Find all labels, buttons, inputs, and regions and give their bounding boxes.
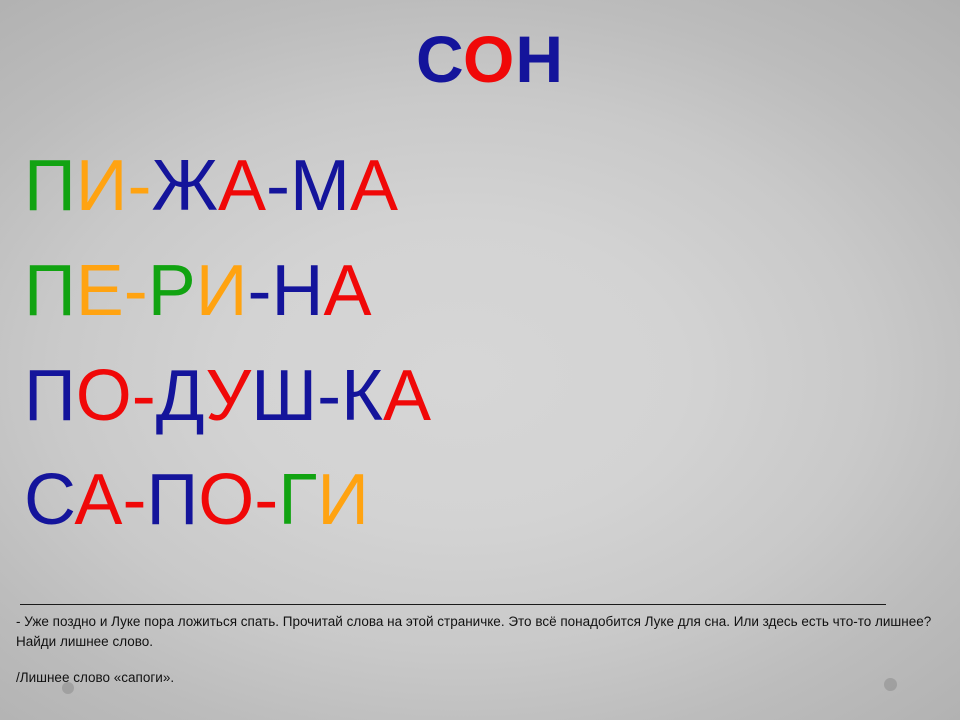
word-2-char-1: О	[76, 356, 132, 436]
word-0-char-5: -	[266, 146, 290, 226]
word-3-char-7: И	[317, 460, 369, 540]
notes-paragraph-answer: /Лишнее слово «сапоги».	[16, 668, 944, 688]
notes-divider	[20, 604, 886, 605]
word-2-char-7: К	[341, 356, 383, 436]
page-title: СОН	[0, 26, 960, 92]
word-3-char-3: П	[146, 460, 198, 540]
word-3-char-4: О	[198, 460, 254, 540]
word-2-char-8: А	[383, 356, 431, 436]
word-3-char-1: А	[74, 460, 122, 540]
word-row-2: ПО-ДУШ-КА	[24, 344, 924, 449]
word-0-char-7: А	[350, 146, 398, 226]
word-0-char-1: И	[76, 146, 128, 226]
word-3-char-2: -	[122, 460, 146, 540]
word-2-char-2: -	[132, 356, 156, 436]
word-row-3: СА-ПО-ГИ	[24, 448, 924, 553]
word-0-char-4: А	[218, 146, 266, 226]
title-char-2: Н	[515, 22, 564, 96]
word-1-char-4: И	[196, 251, 248, 331]
word-1-char-2: -	[124, 251, 148, 331]
decorative-dot-right-icon	[884, 678, 897, 691]
word-row-1: ПЕ-РИ-НА	[24, 239, 924, 344]
word-1-char-3: Р	[148, 251, 196, 331]
word-2-char-6: -	[317, 356, 341, 436]
word-3-char-0: С	[24, 460, 74, 540]
word-0-char-2: -	[128, 146, 152, 226]
title-char-1: О	[463, 22, 515, 96]
word-0-char-6: М	[290, 146, 350, 226]
title-char-0: С	[416, 22, 463, 96]
notes-paragraph-instruction: - Уже поздно и Луке пора ложиться спать.…	[16, 612, 944, 652]
word-3-char-6: Г	[278, 460, 317, 540]
slide-canvas: СОН ПИ-ЖА-МАПЕ-РИ-НАПО-ДУШ-КАСА-ПО-ГИ - …	[0, 0, 960, 720]
notes-spacer	[16, 652, 944, 668]
word-2-char-4: У	[205, 356, 251, 436]
word-2-char-3: Д	[156, 356, 206, 436]
word-0-char-0: П	[24, 146, 76, 226]
word-3-char-5: -	[254, 460, 278, 540]
word-1-char-5: -	[248, 251, 272, 331]
word-2-char-5: Ш	[251, 356, 317, 436]
decorative-dot-left-icon	[62, 682, 74, 694]
word-1-char-7: А	[324, 251, 372, 331]
syllable-word-list: ПИ-ЖА-МАПЕ-РИ-НАПО-ДУШ-КАСА-ПО-ГИ	[24, 134, 924, 553]
speaker-notes: - Уже поздно и Луке пора ложиться спать.…	[16, 612, 944, 688]
word-1-char-0: П	[24, 251, 76, 331]
word-1-char-1: Е	[76, 251, 124, 331]
word-2-char-0: П	[24, 356, 76, 436]
word-0-char-3: Ж	[151, 146, 217, 226]
word-row-0: ПИ-ЖА-МА	[24, 134, 924, 239]
word-1-char-6: Н	[272, 251, 324, 331]
